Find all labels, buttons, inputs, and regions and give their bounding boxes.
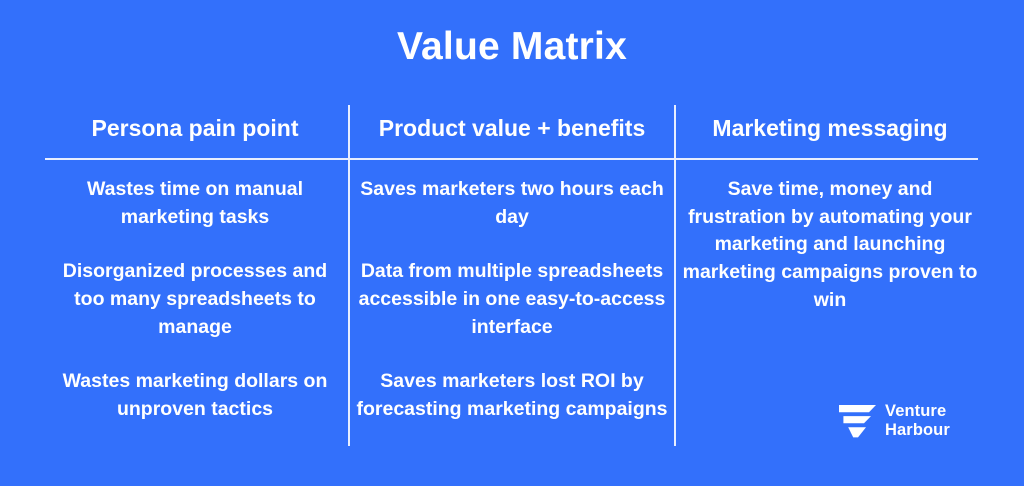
list-item: Saves marketers two hours each day xyxy=(356,176,668,231)
header-divider xyxy=(45,158,978,160)
page-title: Value Matrix xyxy=(0,26,1024,69)
column-divider-2 xyxy=(674,105,676,446)
column-divider-1 xyxy=(348,105,350,446)
venture-harbour-logo: Venture Harbour xyxy=(839,402,950,441)
list-item: Save time, money and frustration by auto… xyxy=(682,176,978,314)
list-item: Disorganized processes and too many spre… xyxy=(45,258,345,341)
column-header-product-value-benefits: Product value + benefits xyxy=(356,106,668,150)
column-body-product-value-benefits: Saves marketers two hours each day Data … xyxy=(356,176,668,424)
value-matrix: Value Matrix Persona pain point Wastes t… xyxy=(0,0,1024,486)
column-body-persona-pain-point: Wastes time on manual marketing tasks Di… xyxy=(45,176,345,424)
list-item: Saves marketers lost ROI by forecasting … xyxy=(356,368,668,423)
list-item: Data from multiple spreadsheets accessib… xyxy=(356,258,668,341)
column-body-marketing-messaging: Save time, money and frustration by auto… xyxy=(682,176,978,314)
list-item: Wastes time on manual marketing tasks xyxy=(45,176,345,231)
logo-wordmark: Venture Harbour xyxy=(885,402,950,441)
logo-line-2: Harbour xyxy=(885,421,950,440)
column-header-marketing-messaging: Marketing messaging xyxy=(682,106,978,150)
column-header-persona-pain-point: Persona pain point xyxy=(45,106,345,150)
logo-line-1: Venture xyxy=(885,402,950,421)
venture-harbour-v-mark-icon xyxy=(839,404,876,438)
list-item: Wastes marketing dollars on unproven tac… xyxy=(45,368,345,423)
